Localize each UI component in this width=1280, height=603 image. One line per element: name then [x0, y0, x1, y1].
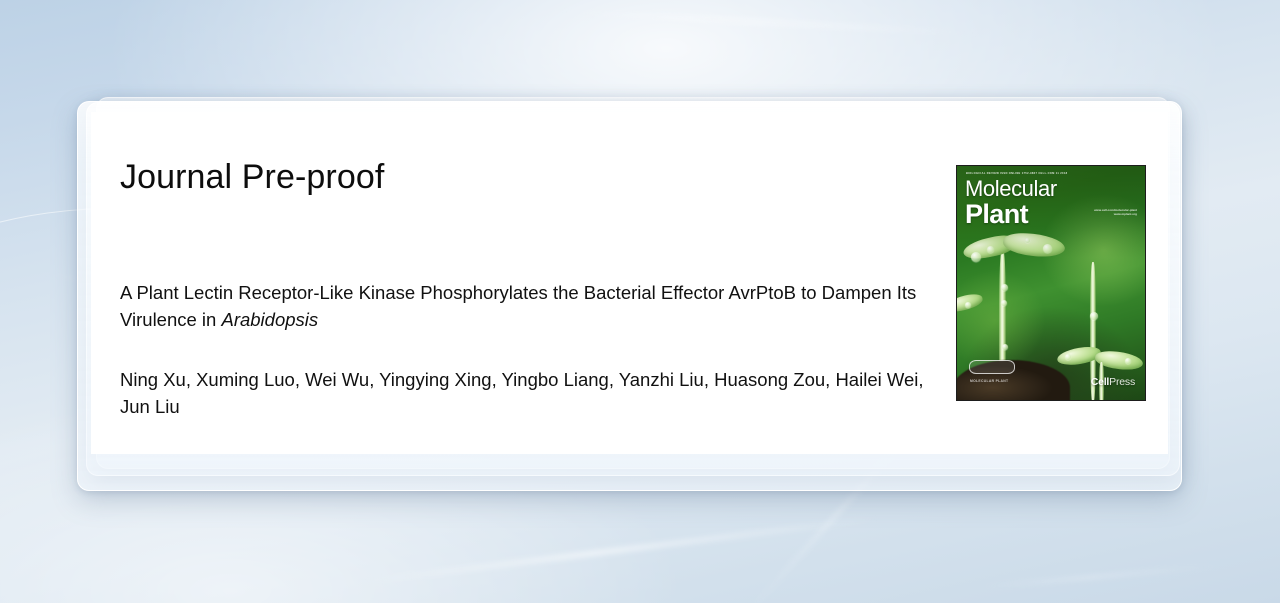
cell-press-logo: CellPress	[1091, 376, 1135, 388]
wallpaper-light-streak	[980, 565, 1219, 589]
cover-society-logo: MOLECULAR PLANT	[969, 360, 1025, 382]
page-title: Journal Pre-proof	[120, 158, 384, 197]
journal-cover-image[interactable]: BIOLOGICAL REVIEW ISSN ONLINE 1752-9867 …	[956, 165, 1146, 401]
cover-url-line-2: www.mplant.org	[1094, 212, 1137, 216]
document-window[interactable]: Journal Pre-proof A Plant Lectin Recepto…	[91, 112, 1168, 454]
society-logo-text: MOLECULAR PLANT	[970, 379, 1008, 383]
cover-brand-line-2: Plant	[965, 201, 1057, 228]
cover-url: www.cell.com/molecular-plant www.mplant.…	[1094, 208, 1137, 217]
society-logo-mark	[969, 360, 1015, 374]
cover-brand-line-1: Molecular	[965, 178, 1057, 200]
document-page: Journal Pre-proof A Plant Lectin Recepto…	[91, 112, 1168, 454]
cell-press-logo-cell: Cell	[1091, 376, 1109, 388]
wallpaper-light-streak	[362, 516, 879, 583]
cell-press-logo-press: Press	[1109, 376, 1135, 388]
cover-meta-line: BIOLOGICAL REVIEW ISSN ONLINE 1752-9867 …	[966, 172, 1067, 175]
author-list: Ning Xu, Xuming Luo, Wei Wu, Yingying Xi…	[120, 367, 940, 420]
article-title-species: Arabidopsis	[221, 309, 318, 330]
wallpaper-light-streak	[560, 9, 980, 36]
article-title: A Plant Lectin Receptor-Like Kinase Phos…	[120, 280, 940, 333]
cover-brand: Molecular Plant	[965, 178, 1057, 228]
